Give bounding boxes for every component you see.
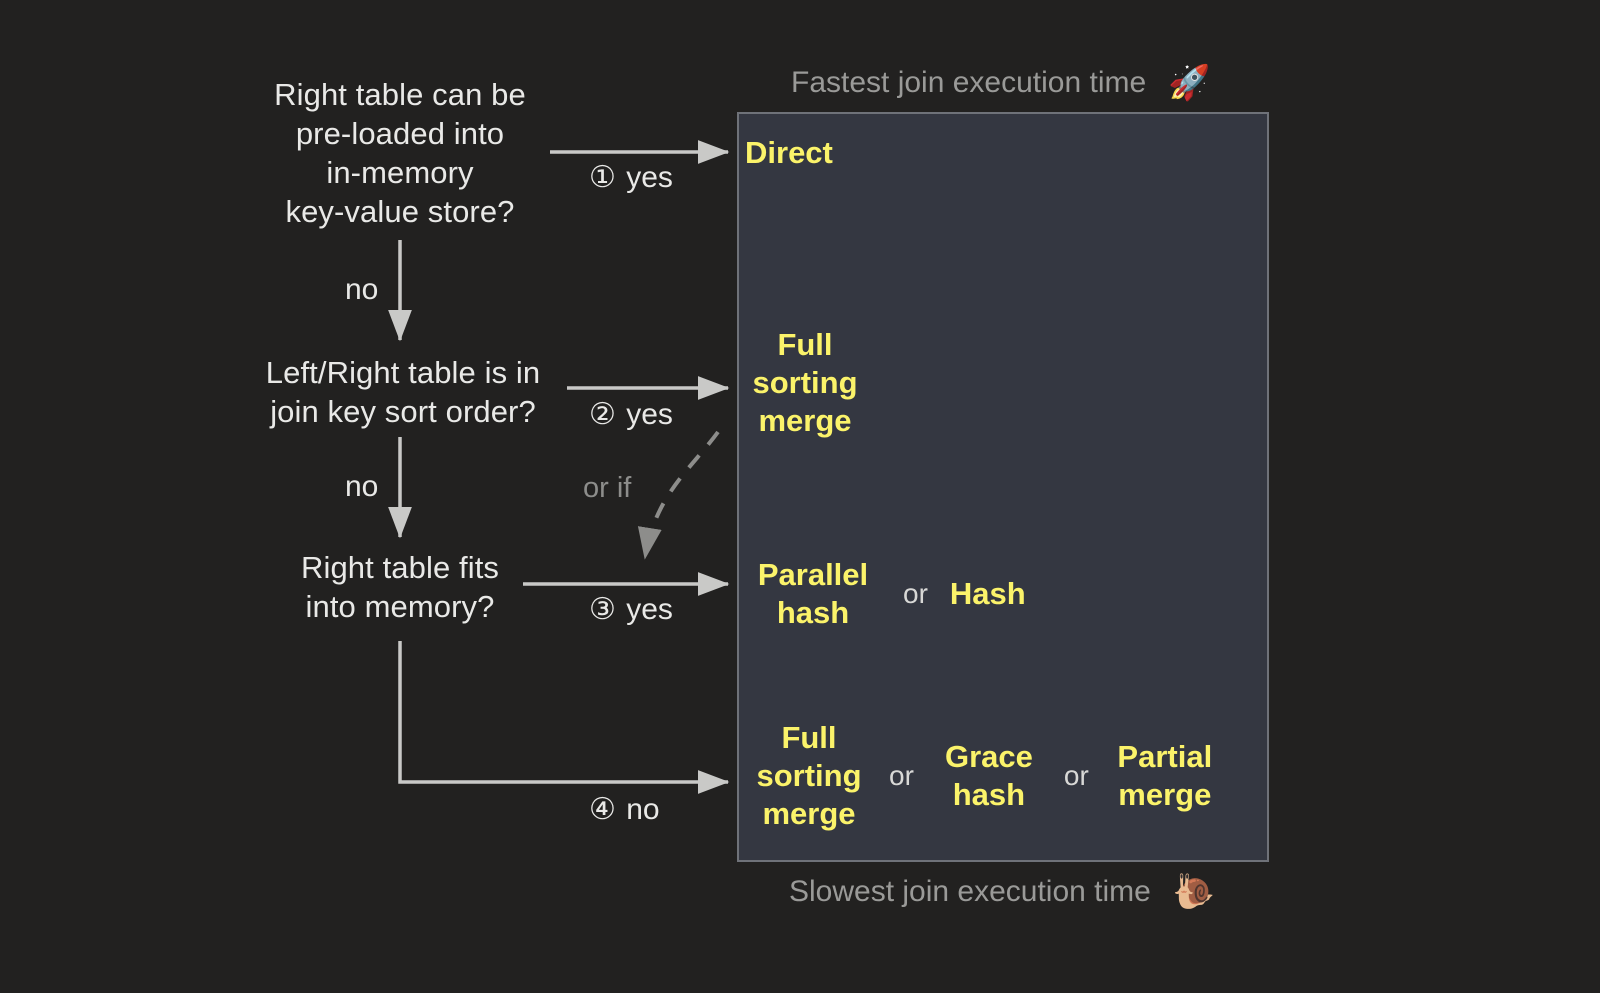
option-full-sorting-merge: Full sorting merge [745, 326, 865, 440]
separator-or-3: or [1048, 760, 1105, 792]
question-3: Right table fits into memory? [235, 548, 565, 626]
join-strategy-panel: Direct Full sorting merge Parallel hash … [737, 112, 1269, 862]
fastest-caption: Fastest join execution time 🚀 [791, 66, 1211, 100]
arrow-or-if-dashed [645, 432, 718, 558]
option-partial-merge: Partial merge [1105, 738, 1225, 814]
option-grace-hash: Grace hash [930, 738, 1048, 814]
option-direct: Direct [745, 134, 833, 172]
label-or-if: or if [583, 472, 631, 505]
separator-or-1: or [881, 578, 950, 610]
branch-label-1: ① yes [589, 163, 673, 193]
snail-emoji: 🐌 [1173, 875, 1215, 909]
branch-marker-2: ② [589, 398, 618, 431]
option-parallel-hash: Parallel hash [745, 556, 881, 632]
separator-or-2: or [873, 760, 930, 792]
branch-answer-1: yes [626, 161, 673, 194]
branch-answer-4: no [626, 793, 659, 826]
rocket-emoji: 🚀 [1168, 66, 1210, 100]
row-direct: Direct [739, 134, 1267, 172]
row-full-sorting-merge: Full sorting merge [739, 326, 1267, 440]
branch-answer-2: yes [626, 398, 673, 431]
arrow-no-4 [400, 641, 728, 782]
option-hash: Hash [950, 575, 1026, 613]
question-2: Left/Right table is in join key sort ord… [238, 353, 568, 431]
branch-label-3: ③ yes [589, 595, 673, 625]
branch-marker-1: ① [589, 161, 618, 194]
branch-label-2: ② yes [589, 400, 673, 430]
label-no-2: no [345, 472, 378, 502]
slowest-caption: Slowest join execution time 🐌 [789, 875, 1215, 909]
fastest-caption-text: Fastest join execution time [791, 66, 1146, 100]
row-fallback: Full sorting merge or Grace hash or Part… [739, 719, 1267, 833]
option-full-sorting-merge-2: Full sorting merge [745, 719, 873, 833]
branch-label-4: ④ no [589, 795, 660, 825]
branch-answer-3: yes [626, 593, 673, 626]
row-parallel-hash: Parallel hash or Hash [739, 556, 1267, 632]
branch-marker-4: ④ [589, 793, 618, 826]
question-1: Right table can be pre-loaded into in-me… [235, 75, 565, 231]
slowest-caption-text: Slowest join execution time [789, 875, 1151, 909]
diagram-canvas: Right table can be pre-loaded into in-me… [0, 0, 1600, 993]
branch-marker-3: ③ [589, 593, 618, 626]
label-no-1: no [345, 275, 378, 305]
